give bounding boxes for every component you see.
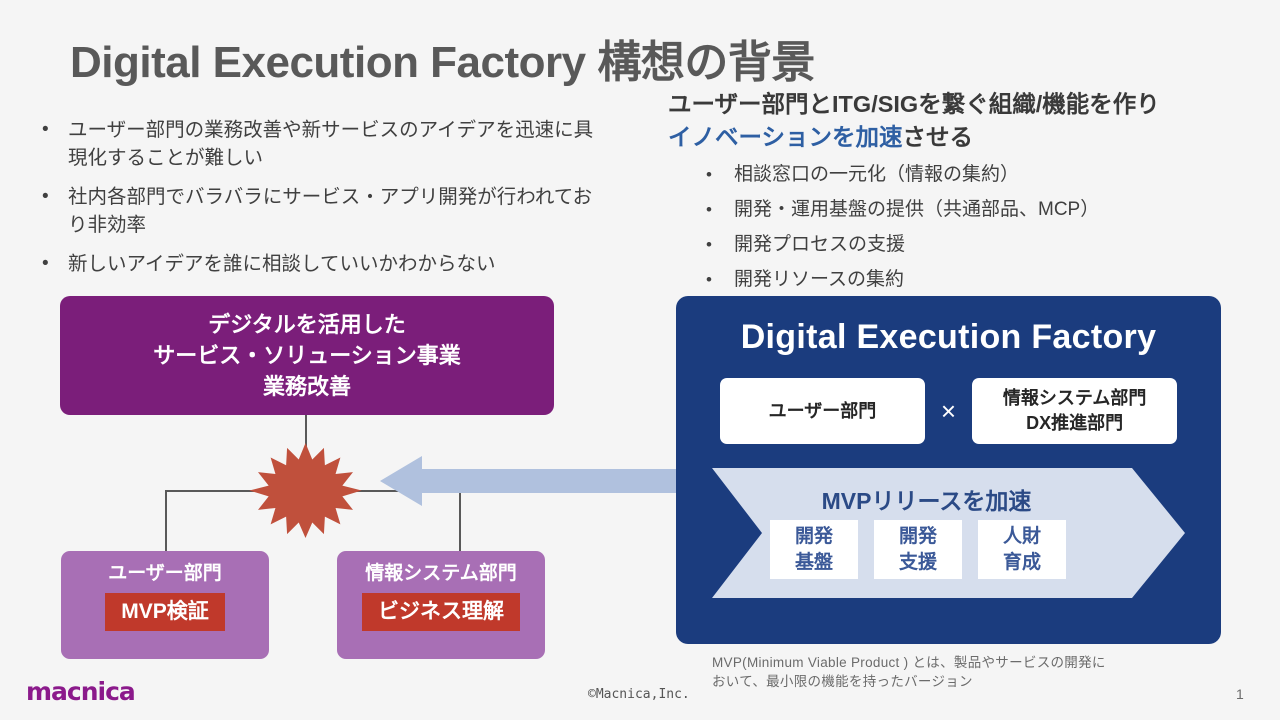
list-item: • 開発プロセスの支援 <box>706 230 1226 259</box>
org-card-user-department: ユーザー部門 <box>720 378 925 444</box>
mvp-footnote-line2: おいて、最小限の機能を持ったバージョン <box>712 672 1232 691</box>
list-item-label: 新しいアイデアを誰に相談していいかわからない <box>68 250 495 278</box>
chevron-card-line1: 開発 <box>899 524 937 550</box>
starburst-icon <box>247 443 364 538</box>
list-item: • ユーザー部門の業務改善や新サービスのアイデアを迅速に具現化することが難しい <box>36 116 596 172</box>
mvp-footnote: MVP(Minimum Viable Product ) とは、製品やサービスの… <box>712 653 1232 691</box>
slide-canvas: Digital Execution Factory 構想の背景 • ユーザー部門… <box>0 0 1280 720</box>
chevron-card-line2: 基盤 <box>795 550 833 576</box>
list-item-label: ユーザー部門の業務改善や新サービスのアイデアを迅速に具現化することが難しい <box>68 116 596 172</box>
it-department-chip: ビジネス理解 <box>362 593 520 631</box>
list-item-label: 社内各部門でバラバラにサービス・アプリ開発が行われており非効率 <box>68 183 596 239</box>
chevron-card-line1: 開発 <box>795 524 833 550</box>
digital-business-box-text: デジタルを活用した サービス・ソリューション事業 業務改善 <box>153 309 461 402</box>
bullet-dot-icon: • <box>706 160 734 189</box>
mvp-footnote-line1: MVP(Minimum Viable Product ) とは、製品やサービスの… <box>712 653 1232 672</box>
chevron-card: 開発 基盤 <box>770 520 858 579</box>
digital-execution-factory-panel: Digital Execution Factory ユーザー部門 × 情報システ… <box>676 296 1221 644</box>
list-item: • 開発・運用基盤の提供（共通部品、MCP） <box>706 195 1226 224</box>
digital-business-line3: 業務改善 <box>153 371 461 402</box>
right-heading-rest: させる <box>903 124 974 150</box>
mvp-chevron: MVPリリースを加速 開発 基盤 開発 支援 人財 育成 <box>712 468 1185 598</box>
list-item: • 新しいアイデアを誰に相談していいかわからない <box>36 250 596 278</box>
list-item-label: 開発・運用基盤の提供（共通部品、MCP） <box>734 195 1099 224</box>
mvp-chevron-cards: 開発 基盤 開発 支援 人財 育成 <box>770 520 1066 579</box>
copyright-text: ©Macnica,Inc. <box>588 687 690 702</box>
def-panel-title: Digital Execution Factory <box>676 318 1221 357</box>
list-item-label: 相談窓口の一元化（情報の集約） <box>734 160 1019 189</box>
user-department-title: ユーザー部門 <box>108 560 222 588</box>
list-item-label: 開発リソースの集約 <box>734 265 904 294</box>
left-bullet-list: • ユーザー部門の業務改善や新サービスのアイデアを迅速に具現化することが難しい … <box>36 116 596 289</box>
digital-business-line2: サービス・ソリューション事業 <box>153 340 461 371</box>
org-card-it-line2: DX推進部門 <box>1003 411 1146 436</box>
list-item-label: 開発プロセスの支援 <box>734 230 905 259</box>
org-card-it-department: 情報システム部門 DX推進部門 <box>972 378 1177 444</box>
it-department-title: 情報システム部門 <box>365 560 516 588</box>
chevron-card: 開発 支援 <box>874 520 962 579</box>
bullet-dot-icon: • <box>706 230 734 259</box>
bullet-dot-icon: • <box>706 265 734 294</box>
user-department-chip: MVP検証 <box>105 593 225 631</box>
chevron-card-line2: 育成 <box>1003 550 1041 576</box>
left-arrow-icon <box>380 456 680 506</box>
org-card-it-line1: 情報システム部門 <box>1003 386 1146 411</box>
user-department-box: ユーザー部門 MVP検証 <box>61 551 269 659</box>
digital-business-box: デジタルを活用した サービス・ソリューション事業 業務改善 <box>60 296 554 415</box>
org-card-it-department-text: 情報システム部門 DX推進部門 <box>1003 386 1146 436</box>
right-heading: ユーザー部門とITG/SIGを繋ぐ組織/機能を作り イノベーションを加速させる <box>668 88 1268 154</box>
it-department-box: 情報システム部門 ビジネス理解 <box>337 551 545 659</box>
chevron-card-line1: 人財 <box>1003 524 1041 550</box>
page-title: Digital Execution Factory 構想の背景 <box>70 26 815 90</box>
right-heading-line2: イノベーションを加速させる <box>668 121 1268 154</box>
list-item: • 社内各部門でバラバラにサービス・アプリ開発が行われており非効率 <box>36 183 596 239</box>
digital-business-line1: デジタルを活用した <box>153 309 461 340</box>
bullet-dot-icon: • <box>36 250 68 278</box>
list-item: • 開発リソースの集約 <box>706 265 1226 294</box>
mvp-chevron-label: MVPリリースを加速 <box>712 482 1141 516</box>
chevron-card: 人財 育成 <box>978 520 1066 579</box>
connector-line-vertical-left <box>165 490 167 552</box>
page-number: 1 <box>1236 686 1244 702</box>
bullet-dot-icon: • <box>706 195 734 224</box>
bullet-dot-icon: • <box>36 116 68 172</box>
org-card-user-department-label: ユーザー部門 <box>769 399 877 424</box>
right-bullet-list: • 相談窓口の一元化（情報の集約） • 開発・運用基盤の提供（共通部品、MCP）… <box>706 160 1226 300</box>
right-heading-accent: イノベーションを加速 <box>668 124 903 150</box>
macnica-logo: macnica <box>26 677 135 706</box>
def-org-row: ユーザー部門 × 情報システム部門 DX推進部門 <box>712 378 1185 444</box>
list-item: • 相談窓口の一元化（情報の集約） <box>706 160 1226 189</box>
chevron-card-line2: 支援 <box>899 550 937 576</box>
bullet-dot-icon: • <box>36 183 68 239</box>
right-heading-line1: ユーザー部門とITG/SIGを繋ぐ組織/機能を作り <box>668 88 1268 121</box>
multiply-icon: × <box>941 396 956 427</box>
